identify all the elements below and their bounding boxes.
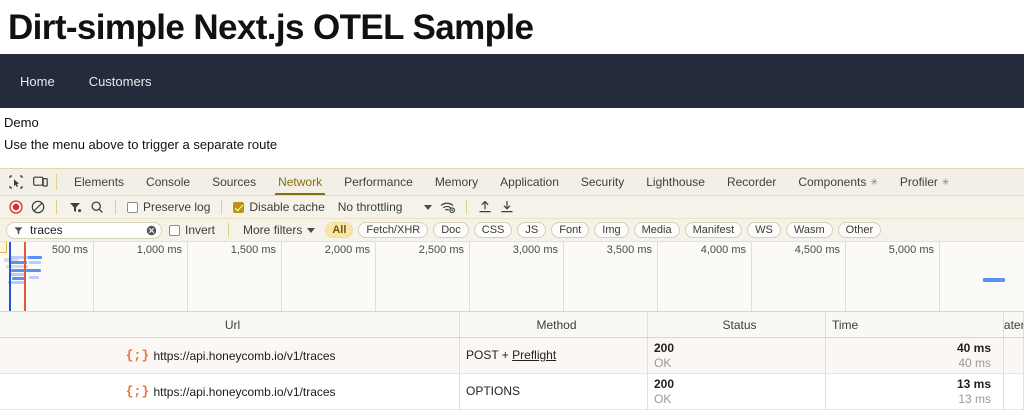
overview-request-bar: [28, 269, 41, 272]
method-text: POST +: [466, 348, 512, 362]
overview-tick: [845, 242, 846, 311]
network-overview-timeline[interactable]: 500 ms1,000 ms1,500 ms2,000 ms2,500 ms3,…: [0, 242, 1024, 312]
request-method-cell: POST + Preflight: [460, 338, 648, 373]
overview-tick-label: 4,000 ms: [701, 244, 751, 256]
chip-doc[interactable]: Doc: [433, 222, 469, 238]
overview-tick-label: 5,000 ms: [889, 244, 939, 256]
page-content: Demo Use the menu above to trigger a sep…: [0, 108, 1024, 158]
filter-value: traces: [30, 223, 140, 237]
nav-link-home[interactable]: Home: [16, 68, 59, 95]
tab-label: Elements: [74, 175, 124, 189]
overview-request-bar: [11, 269, 29, 272]
request-status-cell: 200 OK: [648, 374, 826, 409]
overview-tick: [187, 242, 188, 311]
filter-input[interactable]: traces: [6, 222, 162, 239]
tab-label: Sources: [212, 175, 256, 189]
chip-manifest[interactable]: Manifest: [685, 222, 743, 238]
request-url: https://api.honeycomb.io/v1/traces: [153, 385, 335, 399]
preflight-link[interactable]: Preflight: [512, 348, 556, 362]
json-icon: {;}: [129, 384, 145, 400]
status-text: OK: [654, 356, 825, 371]
tab-profiler[interactable]: Profiler ✳: [889, 169, 961, 195]
request-waterfall-cell: [1004, 338, 1024, 373]
chip-wasm[interactable]: Wasm: [786, 222, 833, 238]
column-url[interactable]: Url: [0, 312, 460, 337]
react-badge-icon: ✳: [942, 177, 950, 188]
tab-components[interactable]: Components ✳: [787, 169, 889, 195]
checkbox-box: [169, 225, 180, 236]
resource-type-chips: All Fetch/XHR Doc CSS JS Font Img Media …: [325, 222, 881, 238]
network-filterbar: traces Invert More filters All Fetch/XHR…: [0, 219, 1024, 242]
column-waterfall[interactable]: Waterfall: [1004, 312, 1024, 337]
table-header-row: Url Method Status Time Waterfall: [0, 312, 1024, 338]
status-code: 200: [654, 341, 825, 356]
overview-tick: [939, 242, 940, 311]
time-total: 40 ms: [957, 341, 991, 356]
tab-memory[interactable]: Memory: [424, 169, 489, 195]
overview-selection-handle[interactable]: [0, 242, 7, 253]
chip-font[interactable]: Font: [551, 222, 589, 238]
overview-request-bar: [983, 278, 1005, 282]
chip-js[interactable]: JS: [517, 222, 546, 238]
tab-sources[interactable]: Sources: [201, 169, 267, 195]
time-latency: 13 ms: [958, 392, 991, 407]
disable-cache-checkbox[interactable]: Disable cache: [230, 200, 327, 214]
overview-request-bar: [29, 261, 41, 264]
tab-application[interactable]: Application: [489, 169, 570, 195]
overview-tick-label: 2,500 ms: [419, 244, 469, 256]
toolbar-divider: [221, 200, 222, 214]
dom-content-loaded-marker: [9, 242, 11, 311]
overview-tick: [469, 242, 470, 311]
tab-network[interactable]: Network: [267, 169, 333, 195]
chip-ws[interactable]: WS: [747, 222, 781, 238]
chevron-down-icon: [424, 205, 432, 210]
request-url-cell[interactable]: {;} https://api.honeycomb.io/v1/traces: [0, 338, 460, 373]
chip-other[interactable]: Other: [838, 222, 882, 238]
demo-heading: Demo: [4, 114, 1020, 132]
overview-tick-label: 500 ms: [52, 244, 93, 256]
request-method-cell: OPTIONS: [460, 374, 648, 409]
overview-tick: [657, 242, 658, 311]
json-icon: {;}: [129, 348, 145, 364]
overview-tick-label: 3,000 ms: [513, 244, 563, 256]
toolbar-divider: [56, 200, 57, 214]
tab-label: Lighthouse: [646, 175, 705, 189]
tab-elements[interactable]: Elements: [63, 169, 135, 195]
filter-icon[interactable]: [65, 198, 85, 217]
overview-tick: [375, 242, 376, 311]
checkbox-box: [233, 202, 244, 213]
request-waterfall-cell: [1004, 374, 1024, 409]
nav-link-customers[interactable]: Customers: [85, 68, 156, 95]
filter-icon: [13, 225, 24, 236]
throttling-select[interactable]: No throttling: [330, 200, 437, 214]
overview-tick: [281, 242, 282, 311]
request-method: POST + Preflight: [466, 348, 647, 363]
overview-tick: [93, 242, 94, 311]
table-row[interactable]: {;} https://api.honeycomb.io/v1/traces O…: [0, 374, 1024, 410]
request-method: OPTIONS: [466, 384, 647, 399]
chip-img[interactable]: Img: [594, 222, 628, 238]
tab-label: Components: [798, 175, 866, 189]
overview-tick-label: 1,500 ms: [231, 244, 281, 256]
overview-tick-label: 1,000 ms: [137, 244, 187, 256]
inspect-element-icon[interactable]: [4, 169, 28, 195]
toolbar-divider: [466, 200, 467, 214]
download-icon[interactable]: [497, 198, 517, 217]
react-badge-icon: ✳: [870, 177, 878, 188]
time-total: 13 ms: [957, 377, 991, 392]
checkbox-box: [127, 202, 138, 213]
status-code: 200: [654, 377, 825, 392]
preserve-log-checkbox[interactable]: Preserve log: [124, 200, 213, 214]
tab-console[interactable]: Console: [135, 169, 201, 195]
devtools-tabbar: Elements Console Sources Network Perform…: [0, 169, 1024, 196]
overview-request-bar: [29, 276, 39, 279]
chevron-down-icon: [307, 228, 315, 233]
overview-tick-label: 3,500 ms: [607, 244, 657, 256]
page-title: Dirt-simple Next.js OTEL Sample: [0, 0, 1024, 54]
request-time-cell: 13 ms 13 ms: [826, 374, 1004, 409]
tab-security[interactable]: Security: [570, 169, 635, 195]
request-url: https://api.honeycomb.io/v1/traces: [153, 349, 335, 363]
overview-tick-label: 4,500 ms: [795, 244, 845, 256]
overview-tick-label: 2,000 ms: [325, 244, 375, 256]
tab-recorder[interactable]: Recorder: [716, 169, 787, 195]
overview-request-bar: [9, 273, 25, 276]
devtools-panel: Elements Console Sources Network Perform…: [0, 168, 1024, 420]
tab-label: Recorder: [727, 175, 776, 189]
column-waterfall-label: Waterfall: [1004, 318, 1024, 332]
record-icon[interactable]: [6, 198, 26, 217]
overview-tick: [563, 242, 564, 311]
tab-lighthouse[interactable]: Lighthouse: [635, 169, 716, 195]
tab-label: Profiler: [900, 175, 938, 189]
network-request-table: Url Method Status Time Waterfall {;} htt…: [0, 312, 1024, 420]
tab-label: Application: [500, 175, 559, 189]
preserve-log-label: Preserve log: [143, 200, 210, 214]
chip-fetch-xhr[interactable]: Fetch/XHR: [358, 222, 428, 238]
toolbar-divider: [228, 223, 229, 237]
search-icon[interactable]: [87, 198, 107, 217]
status-text: OK: [654, 392, 825, 407]
tab-performance[interactable]: Performance: [333, 169, 424, 195]
clear-icon[interactable]: [28, 198, 48, 217]
device-toolbar-icon[interactable]: [28, 169, 52, 195]
demo-subtext: Use the menu above to trigger a separate…: [4, 136, 1020, 154]
more-filters-dropdown[interactable]: More filters: [239, 223, 319, 237]
request-time-cell: 40 ms 40 ms: [826, 338, 1004, 373]
more-filters-label: More filters: [243, 223, 302, 237]
column-status[interactable]: Status: [648, 312, 826, 337]
toolbar-divider: [115, 200, 116, 214]
tab-label: Memory: [435, 175, 478, 189]
toolbar-divider: [56, 174, 57, 190]
column-method[interactable]: Method: [460, 312, 648, 337]
disable-cache-label: Disable cache: [249, 200, 324, 214]
upload-icon[interactable]: [475, 198, 495, 217]
overview-request-bar: [9, 256, 29, 259]
load-event-marker: [24, 242, 26, 311]
request-url-cell[interactable]: {;} https://api.honeycomb.io/v1/traces: [0, 374, 460, 409]
wifi-settings-icon[interactable]: [438, 198, 458, 217]
tab-label: Console: [146, 175, 190, 189]
chip-css[interactable]: CSS: [474, 222, 513, 238]
overview-tick: [751, 242, 752, 311]
invert-checkbox[interactable]: Invert: [166, 223, 218, 237]
tab-label: Performance: [344, 175, 413, 189]
chip-all[interactable]: All: [325, 222, 353, 238]
column-time[interactable]: Time: [826, 312, 1004, 337]
overview-gridlines: 500 ms1,000 ms1,500 ms2,000 ms2,500 ms3,…: [0, 242, 1024, 311]
tab-label: Network: [278, 175, 322, 189]
chip-media[interactable]: Media: [634, 222, 680, 238]
overview-request-bar: [28, 256, 42, 259]
request-status-cell: 200 OK: [648, 338, 826, 373]
throttling-value: No throttling: [338, 200, 403, 214]
site-navbar: Home Customers: [0, 54, 1024, 108]
invert-label: Invert: [185, 223, 215, 237]
time-latency: 40 ms: [958, 356, 991, 371]
network-toolbar: Preserve log Disable cache No throttling: [0, 196, 1024, 219]
tab-label: Security: [581, 175, 624, 189]
column-time-label: Time: [832, 318, 858, 332]
clear-input-icon[interactable]: [146, 225, 157, 236]
table-row[interactable]: {;} https://api.honeycomb.io/v1/traces P…: [0, 338, 1024, 374]
